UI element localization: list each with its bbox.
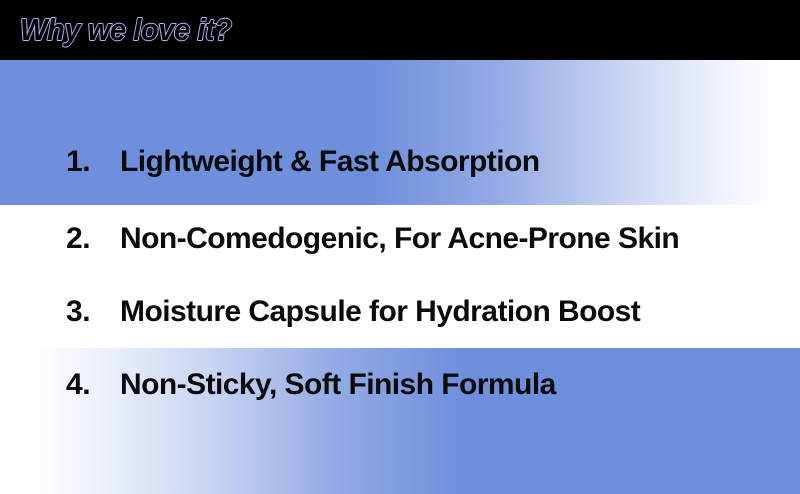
list-item-label: Moisture Capsule for Hydration Boost bbox=[120, 289, 640, 335]
list-item-number: 2. bbox=[66, 216, 120, 262]
list-item-label: Lightweight & Fast Absorption bbox=[120, 139, 540, 185]
list-item: 3. Moisture Capsule for Hydration Boost bbox=[0, 289, 800, 335]
list-item-number: 1. bbox=[66, 139, 120, 185]
slide-root: Why we love it? 1. Lightweight & Fast Ab… bbox=[0, 0, 800, 494]
list-item: 2. Non-Comedogenic, For Acne-Prone Skin bbox=[0, 216, 800, 262]
list-item-label: Non-Sticky, Soft Finish Formula bbox=[120, 362, 556, 408]
list-item-label: Non-Comedogenic, For Acne-Prone Skin bbox=[120, 216, 679, 262]
list-item: 4. Non-Sticky, Soft Finish Formula bbox=[0, 362, 800, 408]
feature-list: 1. Lightweight & Fast Absorption 2. Non-… bbox=[0, 0, 800, 494]
list-item-number: 3. bbox=[66, 289, 120, 335]
list-item-number: 4. bbox=[66, 362, 120, 408]
list-item: 1. Lightweight & Fast Absorption bbox=[0, 139, 800, 185]
